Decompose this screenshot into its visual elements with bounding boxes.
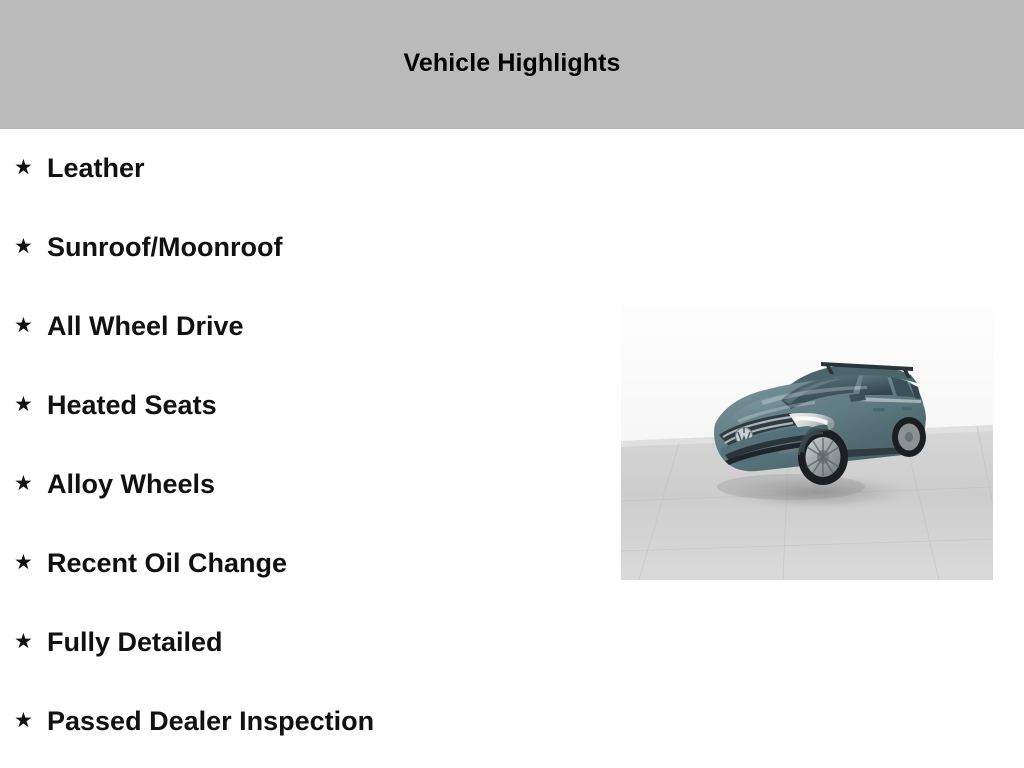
highlight-label: Fully Detailed [47, 629, 223, 656]
page-header: Vehicle Highlights [0, 0, 1024, 129]
list-item: ★ All Wheel Drive [0, 287, 600, 366]
highlight-label: Alloy Wheels [47, 471, 215, 498]
star-icon: ★ [14, 315, 36, 336]
star-icon: ★ [14, 394, 36, 415]
highlight-label: Leather [47, 155, 145, 182]
vehicle-highlights-list: ★ Leather ★ Sunroof/Moonroof ★ All Wheel… [0, 129, 600, 761]
highlight-label: All Wheel Drive [47, 313, 244, 340]
highlight-label: Recent Oil Change [47, 550, 287, 577]
highlight-label: Passed Dealer Inspection [47, 708, 374, 735]
star-icon: ★ [14, 236, 36, 257]
highlight-label: Heated Seats [47, 392, 217, 419]
list-item: ★ Heated Seats [0, 366, 600, 445]
list-item: ★ Leather [0, 129, 600, 208]
list-item: ★ Passed Dealer Inspection [0, 682, 600, 761]
highlight-label: Sunroof/Moonroof [47, 234, 282, 261]
list-item: ★ Alloy Wheels [0, 445, 600, 524]
vehicle-photo [621, 305, 993, 580]
list-item: ★ Sunroof/Moonroof [0, 208, 600, 287]
page-title: Vehicle Highlights [403, 51, 620, 76]
star-icon: ★ [14, 631, 36, 652]
star-icon: ★ [14, 710, 36, 731]
star-icon: ★ [14, 552, 36, 573]
star-icon: ★ [14, 157, 36, 178]
vehicle-photo-image [621, 305, 993, 580]
list-item: ★ Fully Detailed [0, 603, 600, 682]
star-icon: ★ [14, 473, 36, 494]
list-item: ★ Recent Oil Change [0, 524, 600, 603]
